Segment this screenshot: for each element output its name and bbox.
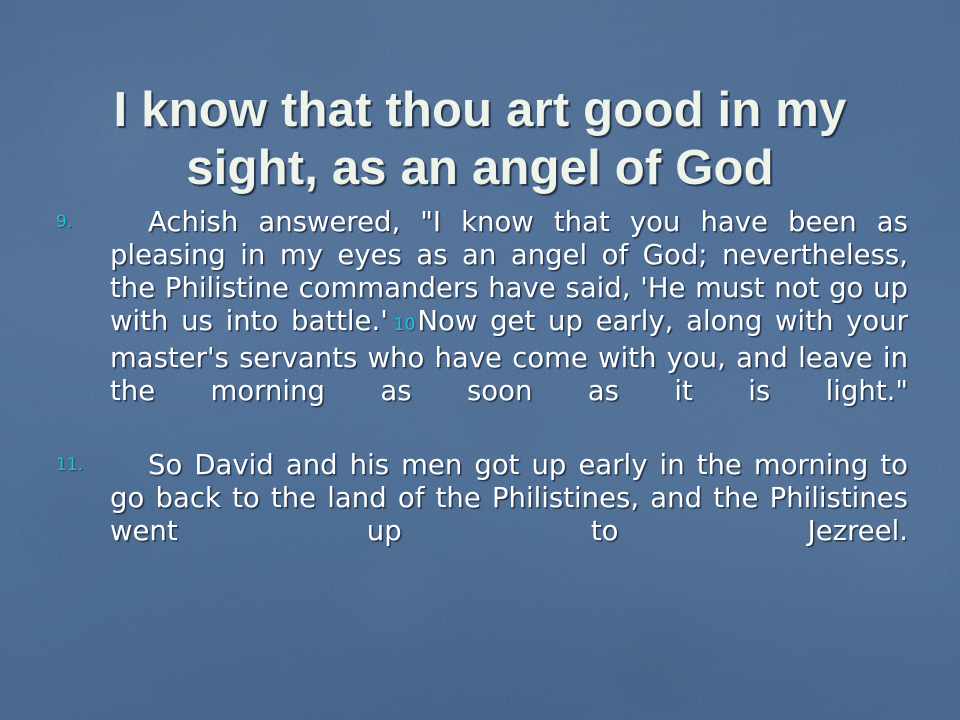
slide-title: I know that thou art good in my sight, a… bbox=[48, 81, 912, 197]
verse-text: Achish answered, "I know that you have b… bbox=[110, 206, 908, 441]
inline-verse-number: 10 bbox=[388, 315, 418, 335]
slide-content: I know that thou art good in my sight, a… bbox=[0, 0, 960, 720]
verse-list: 9. Achish answered, "I know that you hav… bbox=[56, 206, 908, 589]
verse-marker: 11. bbox=[56, 455, 102, 475]
verse-marker: 9. bbox=[56, 212, 102, 232]
verse-text-part-before: So David and his men got up early in the… bbox=[110, 449, 908, 547]
presentation-slide: I know that thou art good in my sight, a… bbox=[0, 0, 960, 720]
verse-text: So David and his men got up early in the… bbox=[110, 449, 908, 581]
list-item: 11. So David and his men got up early in… bbox=[56, 449, 908, 581]
list-item: 9. Achish answered, "I know that you hav… bbox=[56, 206, 908, 441]
